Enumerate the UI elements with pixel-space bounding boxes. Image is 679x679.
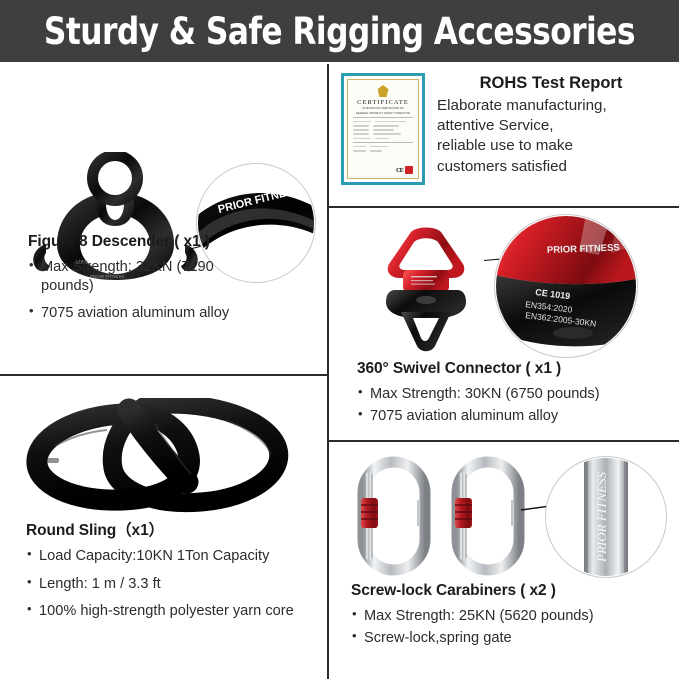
certificate-title: CERTIFICATE — [353, 99, 413, 106]
product-title-figure-8: Figure 8 Descender ( x1 ) — [28, 233, 318, 251]
certificate-emblem-icon — [378, 85, 389, 97]
product-title-round-sling: Round Sling（x1） — [26, 518, 326, 540]
ce-mark-icon: CE — [396, 167, 403, 174]
certificate-subtitle-2: GENERAL PRODUCT SAFETY DIRECTIVE — [353, 112, 413, 116]
panel-figure-8-descender: kN50 PRIOR FITNESS PRIOR FITNESS — [0, 64, 327, 374]
rohs-body-line: reliable use to make — [437, 136, 669, 156]
rohs-body-text: Elaborate manufacturing, attentive Servi… — [437, 96, 669, 177]
product-title-carabiners: Screw-lock Carabiners ( x2 ) — [351, 582, 679, 600]
carabiner-1 — [361, 462, 425, 570]
bullet-item: Max Strength: 30KN (6750 pounds) — [357, 385, 677, 404]
panel-swivel-connector: PRIOR FITNESS CE 1019 EN354:2020 EN362:2… — [329, 208, 679, 440]
infographic-page: Sturdy & Safe Rigging Accessories — [0, 0, 679, 679]
bullet-item: Max Strength: 32KN (7190 pounds) — [28, 258, 256, 295]
safety-logo-icon — [405, 166, 413, 174]
rohs-body-line: attentive Service, — [437, 116, 669, 136]
product-bullets-swivel: Max Strength: 30KN (6750 pounds) 7075 av… — [357, 385, 677, 425]
carabiner-engraving-text: PRIOR FITNESS — [594, 472, 609, 563]
product-bullets-carabiners: Max Strength: 25KN (5620 pounds) Screw-l… — [351, 607, 679, 647]
bullet-item: 100% high-strength polyester yarn core — [26, 602, 301, 621]
carabiner-callout: PRIOR FITNESS — [545, 456, 667, 578]
swivel-callout: PRIOR FITNESS CE 1019 EN354:2020 EN362:2… — [494, 214, 638, 358]
carabiner-2 — [455, 462, 519, 570]
product-bullets-figure-8: Max Strength: 32KN (7190 pounds) 7075 av… — [28, 258, 318, 323]
certificate-thumbnail: CERTIFICATE ATTESTATION CERTIFICATE OF G… — [341, 73, 425, 185]
certificate-subtitle-1: ATTESTATION CERTIFICATE OF — [353, 107, 413, 111]
bullet-item: 7075 aviation aluminum alloy — [357, 407, 677, 426]
bullet-item: Length: 1 m / 3.3 ft — [26, 575, 326, 594]
header-banner: Sturdy & Safe Rigging Accessories — [0, 0, 679, 62]
rohs-heading: ROHS Test Report — [437, 74, 665, 93]
bullet-item: Screw-lock,spring gate — [351, 629, 679, 648]
round-sling-image — [25, 398, 295, 518]
panel-screw-lock-carabiners: PRIOR FITNESS Screw-lock Carabiners ( x2… — [329, 442, 679, 679]
bullet-item: Load Capacity:10KN 1Ton Capacity — [26, 547, 326, 566]
panel-round-sling: Round Sling（x1） Load Capacity:10KN 1Ton … — [0, 376, 327, 679]
product-title-swivel: 360° Swivel Connector ( x1 ) — [357, 360, 677, 378]
page-title: Sturdy & Safe Rigging Accessories — [44, 10, 635, 53]
bullet-item: Max Strength: 25KN (5620 pounds) — [351, 607, 679, 626]
rohs-body-line: Elaborate manufacturing, — [437, 96, 669, 116]
rohs-body-line: customers satisfied — [437, 157, 669, 177]
product-bullets-round-sling: Load Capacity:10KN 1Ton Capacity Length:… — [26, 547, 326, 621]
bullet-item: 7075 aviation aluminum alloy — [28, 304, 318, 323]
panel-rohs-test-report: CERTIFICATE ATTESTATION CERTIFICATE OF G… — [329, 64, 679, 206]
